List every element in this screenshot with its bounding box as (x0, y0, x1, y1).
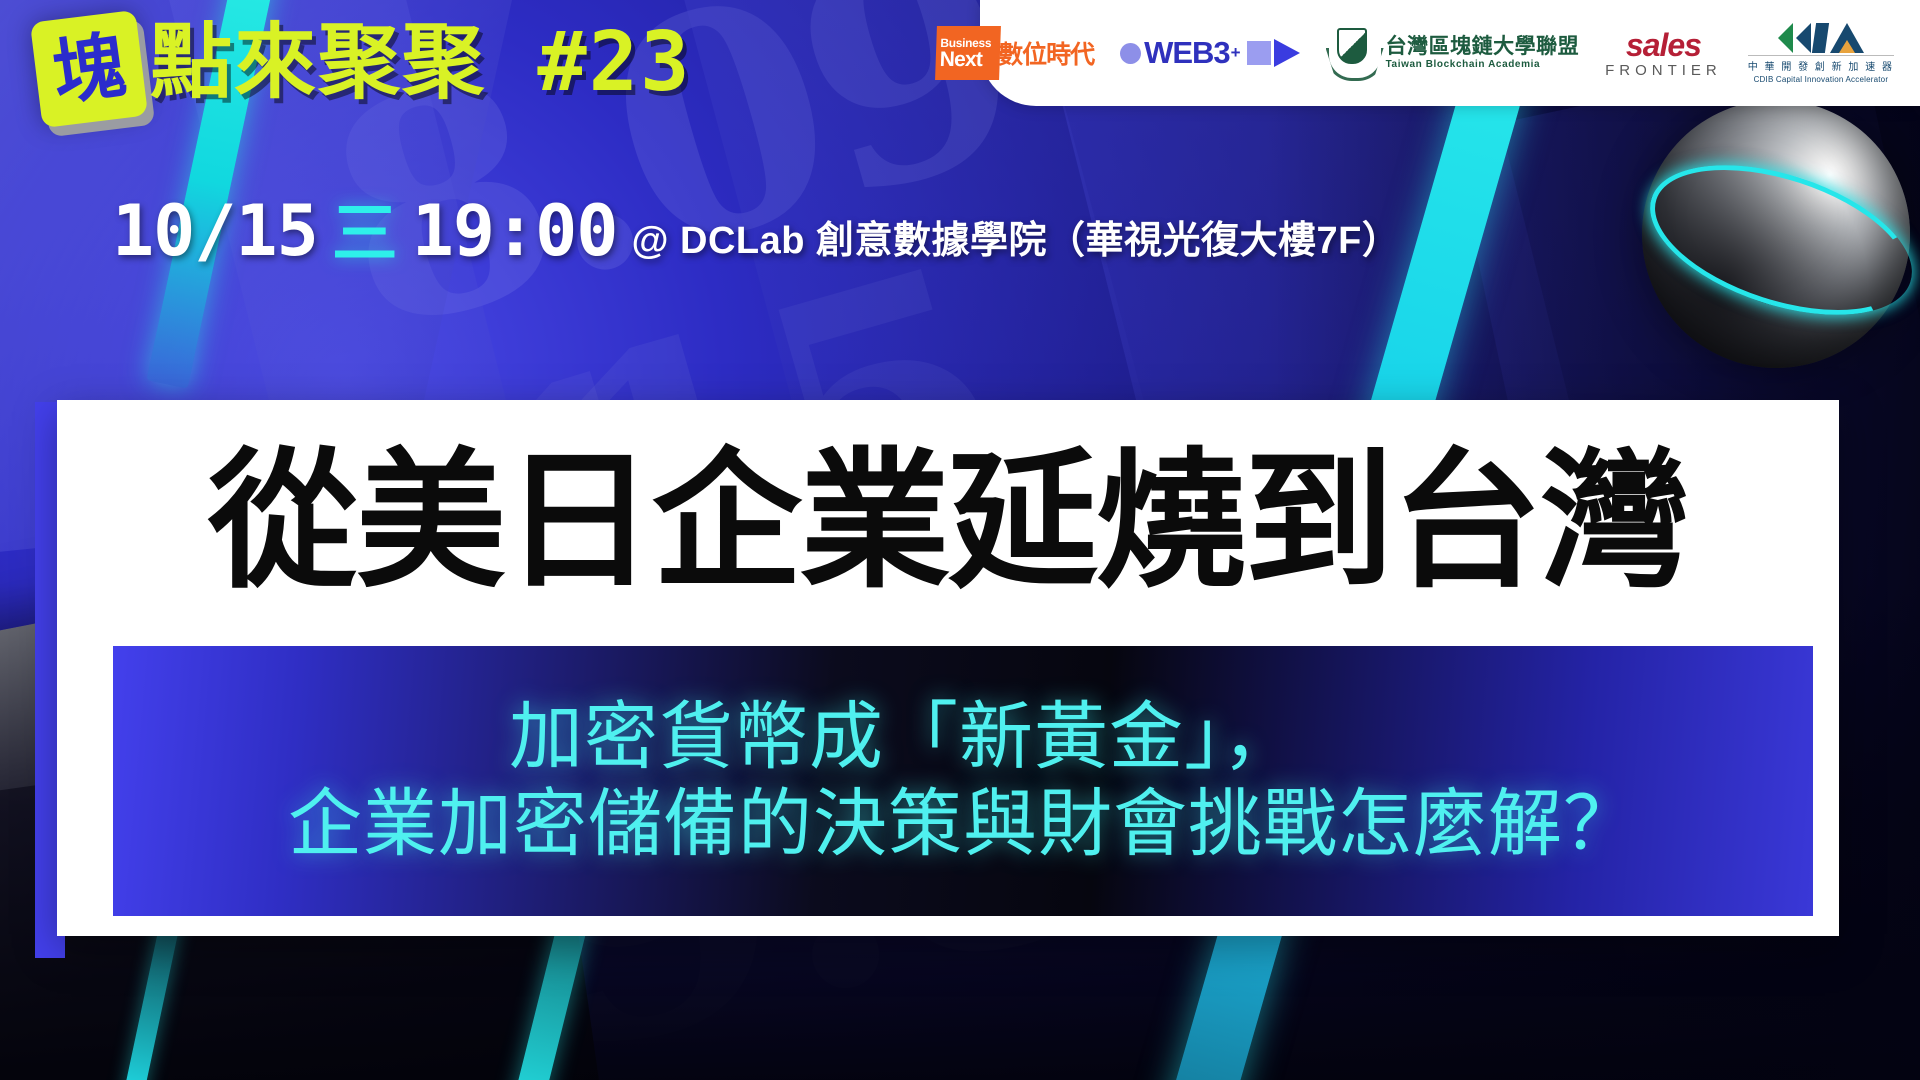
main-headline: 從美日企業延燒到台灣 (57, 408, 1839, 634)
tba-english: Taiwan Blockchain Academia (1386, 59, 1580, 70)
web3-square-icon (1247, 41, 1271, 65)
sponsor-logo-bar: Business Next 數位時代 WEB3 + 台灣區塊鏈大學聯盟 Taiw… (980, 0, 1920, 106)
logo-business-next: Business Next 數位時代 (936, 26, 1094, 80)
event-time: 19:00 (412, 196, 618, 266)
brand-title: 點來聚聚 #23 (150, 16, 691, 110)
tba-chinese: 台灣區塊鏈大學聯盟 (1386, 36, 1580, 58)
brand-cube-glyph: 塊 (48, 28, 129, 109)
logo-taiwan-blockchain-academia: 台灣區塊鏈大學聯盟 Taiwan Blockchain Academia (1326, 25, 1580, 81)
subtitle-line-1: 加密貨幣成「新黃金」， (509, 696, 1297, 779)
crest-icon (1326, 25, 1378, 81)
event-date: 10/15 (112, 196, 318, 266)
business-next-mark: Business Next (935, 26, 1001, 80)
logo-sales-frontier: sales FRONTIER (1605, 29, 1722, 78)
brand-cube-face: 塊 (30, 10, 148, 128)
tba-text-block: 台灣區塊鏈大學聯盟 Taiwan Blockchain Academia (1386, 36, 1580, 69)
event-venue: @ DCLab 創意數據學院（華視光復大樓7F） (631, 222, 1400, 266)
business-next-line1: Business (940, 37, 996, 49)
business-next-line2: Next (939, 49, 996, 70)
web3-text: WEB3 (1144, 35, 1230, 71)
kkia-mark-icon (1778, 23, 1864, 53)
event-weekday: 三 (332, 200, 398, 266)
subtitle-line-2: 企業加密儲備的決策與財會挑戰怎麼解？ (288, 783, 1638, 866)
web3-dot-icon (1120, 43, 1141, 64)
logo-web3-plus: WEB3 + (1120, 35, 1300, 71)
web3-triangle-icon (1274, 39, 1300, 67)
logo-cdib-accelerator: 中 華 開 發 創 新 加 速 器 CDIB Capital Innovatio… (1748, 23, 1894, 84)
business-next-chinese: 數位時代 (998, 35, 1094, 71)
subtitle-panel: 加密貨幣成「新黃金」， 企業加密儲備的決策與財會挑戰怎麼解？ (113, 646, 1813, 916)
kkia-english: CDIB Capital Innovation Accelerator (1754, 75, 1889, 84)
event-poster: 8.09 15 9.87 23 0.91 Business Next 數位時代 … (0, 0, 1920, 1080)
sales-frontier-bottom: FRONTIER (1605, 63, 1722, 78)
brand-cube-logo: 塊 (36, 16, 142, 122)
web3-superscript: + (1231, 43, 1241, 63)
event-meta: 10/15 三 19:00 @ DCLab 創意數據學院（華視光復大樓7F） (112, 196, 1400, 266)
kkia-chinese: 中 華 開 發 創 新 加 速 器 (1748, 55, 1894, 73)
sales-frontier-top: sales (1626, 29, 1701, 61)
